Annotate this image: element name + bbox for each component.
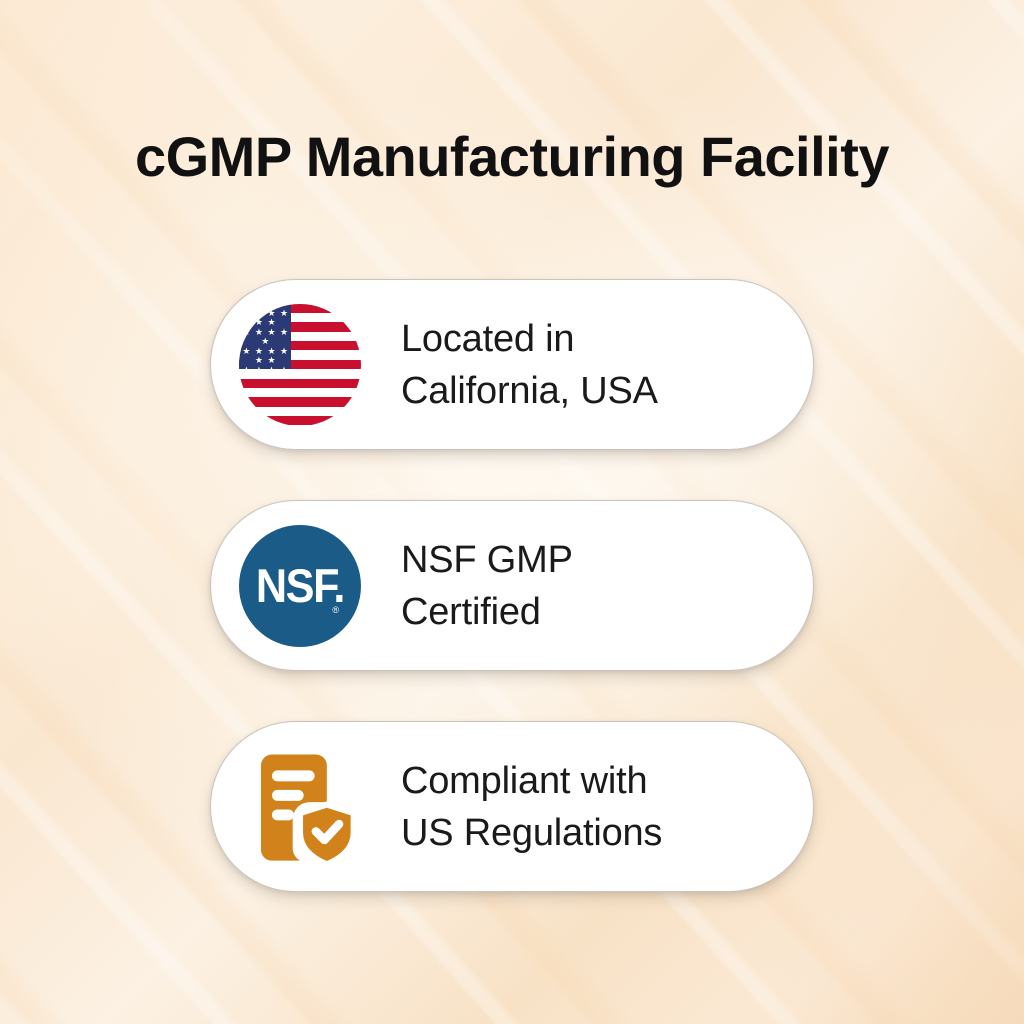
nsf-logo-text: NSF.	[256, 562, 344, 609]
feature-card-us-regulations[interactable]: Compliant with US Regulations	[210, 721, 814, 892]
document-shield-check-icon	[239, 746, 361, 868]
card-text-line-1: NSF GMP	[401, 534, 573, 586]
feature-card-list: ★ ★ ★ ★ ★ ★ ★ ★ ★ ★ ★ ★ ★ ★ ★ ★ ★ ★ ★ ★ …	[0, 279, 1024, 892]
feature-card-location[interactable]: ★ ★ ★ ★ ★ ★ ★ ★ ★ ★ ★ ★ ★ ★ ★ ★ ★ ★ ★ ★ …	[210, 279, 814, 450]
card-icon-slot: ★ ★ ★ ★ ★ ★ ★ ★ ★ ★ ★ ★ ★ ★ ★ ★ ★ ★ ★ ★ …	[239, 304, 361, 426]
card-text-line-2: US Regulations	[401, 807, 662, 859]
infographic-page: cGMP Manufacturing Facility ★ ★ ★ ★ ★ ★ …	[0, 0, 1024, 1024]
nsf-logo-icon: NSF. ®	[239, 525, 361, 647]
flag-stars: ★ ★ ★ ★ ★ ★ ★ ★ ★ ★ ★ ★ ★ ★ ★ ★ ★ ★ ★ ★ …	[239, 304, 291, 370]
feature-card-text: Compliant with US Regulations	[401, 755, 662, 859]
feature-card-text: Located in California, USA	[401, 313, 658, 417]
card-icon-slot	[239, 746, 361, 868]
card-text-line-1: Located in	[401, 313, 658, 365]
registered-trademark-icon: ®	[332, 606, 339, 615]
feature-card-text: NSF GMP Certified	[401, 534, 573, 638]
card-text-line-1: Compliant with	[401, 755, 662, 807]
feature-card-nsf-certified[interactable]: NSF. ® NSF GMP Certified	[210, 500, 814, 671]
us-flag-icon: ★ ★ ★ ★ ★ ★ ★ ★ ★ ★ ★ ★ ★ ★ ★ ★ ★ ★ ★ ★ …	[239, 304, 361, 426]
card-text-line-2: California, USA	[401, 365, 658, 417]
card-text-line-2: Certified	[401, 586, 573, 638]
card-icon-slot: NSF. ®	[239, 525, 361, 647]
page-title: cGMP Manufacturing Facility	[0, 124, 1024, 189]
